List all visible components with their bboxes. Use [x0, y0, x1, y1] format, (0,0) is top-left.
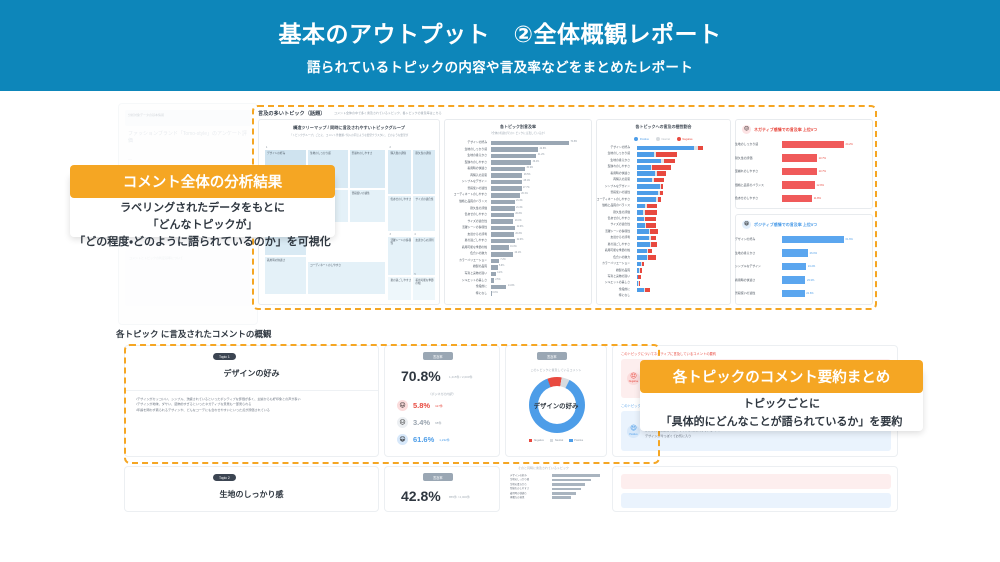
topic-2-minibars-wrap: そのと同時に言及されているトピック デザインの好み生地のしっかり感生地の柔らかさ…: [508, 466, 608, 512]
polarity-category-label: 生地の柔らかさ: [594, 158, 630, 163]
topic-card-2: Topic 2 生地のしっかり感: [124, 466, 379, 512]
bar-category-label: 生地の柔らかさ: [445, 153, 487, 158]
bar-category-label: 再購入の意思: [445, 173, 487, 178]
bar-category-label: シンプルなデザイン: [445, 179, 487, 184]
minibar-fill: [552, 496, 571, 499]
polarity-segment-positive: [637, 255, 647, 260]
callout1-line1: ラベリングされたデータをもとに: [70, 200, 335, 217]
topic-2-mention-pill: 言及率: [423, 473, 453, 481]
bar-fill: [491, 278, 494, 283]
bar-fill: [491, 141, 569, 146]
polarity-segment-positive: [637, 197, 656, 202]
treemap-cell[interactable]: 耐久性の評価: [412, 149, 436, 195]
polarity-category-label: 友達からの評判: [594, 235, 630, 240]
polarity-segment-positive: [637, 184, 660, 189]
polarity-segment-negative: [647, 204, 657, 209]
polarity-segment-positive: [637, 178, 652, 183]
slide-canvas: 分析対象データの基本情報 ファッションブランド「Tomo-style」のアンケー…: [0, 91, 1000, 562]
topic-2-name: 生地のしっかり感: [125, 489, 378, 500]
treemap-title: 構造ツリーマップ / 同時に言及されやすいトピックグループ: [259, 125, 439, 131]
bar-value-label: 2.5%: [495, 278, 500, 283]
treemap-cell[interactable]: 普段使いの適性: [349, 189, 386, 223]
callout1-body: ラベリングされたデータをもとに 「どんなトピックが」 「どの程度・どのように語ら…: [70, 200, 335, 251]
treemap-cell-label: コーディネートのしやすさ: [310, 264, 341, 267]
treemap-cell-label: 普段使いの適性: [352, 192, 370, 195]
topic-2-stats: 言及率 42.8% 855件 / 2,000件: [384, 466, 500, 512]
minibar-fill: [552, 474, 600, 477]
bar-category-label: 全般的に: [445, 284, 487, 289]
minibar-fill: [552, 492, 576, 495]
polarity-segment-positive: [637, 165, 651, 170]
polarity-category-label: 生地のしっかり感: [594, 151, 630, 156]
minibar-label: 生地の柔らかさ: [510, 483, 550, 486]
polarity-category-label: 耐久性の評価: [594, 210, 630, 215]
callout2-body: トピックごとに 「具体的にどんなことが語られているか」を要約: [640, 396, 923, 431]
treemap-cell-label: 活躍シーンの多様性: [390, 239, 411, 245]
bar-fill: [491, 160, 531, 165]
polarity-segment-positive: [637, 217, 644, 222]
polarity-category-label: サイズの適合性: [594, 222, 630, 227]
treemap-cell-label: 生地のしっかり感: [310, 152, 331, 155]
bar-value-label: 20.8%: [515, 212, 522, 217]
top5-bar: [782, 141, 844, 149]
positive-top5-bars: デザインの好み61.6%生地の柔らかさ26.0%シンプルなデザイン24.2%着用…: [736, 215, 872, 304]
top5-category-label: 生地の柔らかさ: [735, 249, 777, 258]
bar-value-label: 22.0%: [517, 225, 524, 230]
polarity-chart: 各トピックへの言及の極性割合 PositiveNeutralNegative デ…: [596, 119, 731, 305]
top5-category-label: 生地のしっかり感: [735, 140, 777, 149]
bar-category-label: 特になし: [445, 291, 487, 296]
top5-bar: [782, 236, 844, 244]
treemap-group-number: 4: [414, 233, 415, 236]
bar-fill: [491, 173, 522, 178]
polarity-category-label: 色合いの魅力: [594, 255, 630, 260]
bar-fill: [491, 147, 538, 152]
topic-2-mention-pct: 42.8%: [401, 488, 441, 504]
bar-value-label: 5.9%: [499, 264, 504, 269]
polarity-segment-positive: [637, 171, 655, 176]
topic-2-negative-box: [621, 474, 891, 489]
polarity-segment-negative: [645, 217, 656, 222]
polarity-category-label: 夏の過ごしやすさ: [594, 242, 630, 247]
topic-2-mention-note: 855件 / 2,000件: [449, 495, 470, 499]
polarity-segment-positive: [637, 204, 645, 209]
bar-category-label: 写真と実物の違い: [445, 271, 487, 276]
polarity-segment-negative: [654, 178, 664, 183]
top5-value-label: 23.3%: [807, 276, 814, 285]
polarity-bars: デザインの好み生地のしっかり感生地の柔らかさ型崩れのしやすさ着用時の快適さ再購入…: [597, 120, 730, 304]
top5-category-label: デザインの好み: [735, 235, 777, 244]
bar-fill: [491, 154, 536, 159]
top5-bar: [782, 263, 806, 271]
topic-2-minibars: デザインの好み生地のしっかり感生地の柔らかさ型崩れのしやすさ着用時の快適さ再購入…: [508, 474, 608, 506]
top-section-note: コメント全体の中で多く言及されているトピック、各トピックの言及率はこちら: [334, 111, 442, 115]
polarity-segment-positive: [637, 152, 654, 157]
treemap-cell-label: サイズの適合性: [415, 198, 433, 201]
top5-value-label: 11.8%: [814, 194, 821, 203]
top5-bar: [782, 290, 805, 298]
callout1-label: コメント全体の分析結果: [70, 165, 335, 198]
bar-category-label: コーディネートのしやすさ: [445, 192, 487, 197]
bar-fill: [491, 245, 509, 250]
treemap-cell[interactable]: 購入後の評価2: [387, 149, 412, 195]
polarity-segment-negative: [658, 197, 662, 202]
callout1-line3: 「どの程度・どのように語られているのか」を可視化: [70, 234, 335, 251]
bar-value-label: 20.8%: [515, 232, 522, 237]
treemap-cell-label: 着用時の快適さ: [267, 259, 285, 262]
bar-fill: [491, 291, 492, 296]
bar-category-label: 友達からの評判: [445, 232, 487, 237]
bar-fill: [491, 180, 522, 185]
top5-bar: [782, 168, 817, 176]
top5-category-label: 型崩れのしやすさ: [735, 167, 777, 176]
topic-2-pill: Topic 2: [213, 474, 236, 481]
treemap-cell[interactable]: サイズの適合性: [412, 195, 436, 232]
polarity-segment-negative: [646, 223, 656, 228]
polarity-segment-positive: [637, 159, 661, 164]
positive-top5-panel: 😄 ポジティブ感情での言及率 上位5つ デザインの好み61.6%生地の柔らかさ2…: [735, 214, 873, 305]
polarity-segment-negative: [656, 152, 677, 157]
treemap-cell[interactable]: 友達からの評判4: [412, 236, 436, 276]
minibar-fill: [552, 483, 585, 486]
top5-category-label: 普段使いの適性: [735, 289, 777, 298]
treemap-cell[interactable]: 色あせのしやすさ: [387, 195, 412, 232]
polarity-category-label: 写真と実物の違い: [594, 274, 630, 279]
bar-category-label: 耐久性の評価: [445, 206, 487, 211]
page-title: 基本のアウトプット ②全体概観レポート: [279, 15, 722, 49]
bar-value-label: 0.0%: [493, 291, 498, 296]
treemap-group-number: 1: [266, 146, 267, 149]
bar-category-label: 生地のしっかり感: [445, 147, 487, 152]
top5-category-label: 色あせのしやすさ: [735, 194, 777, 203]
treemap-cell[interactable]: 活躍シーンの多様性3: [387, 236, 412, 276]
polarity-segment-positive: [637, 229, 649, 234]
polarity-category-label: 特になし: [594, 293, 630, 298]
callout2-line2: 「具体的にどんなことが語られているか」を要約: [640, 414, 923, 432]
minibar-fill: [552, 479, 591, 482]
top5-bar: [782, 154, 817, 162]
polarity-segment-negative: [657, 171, 666, 176]
minibar-label: デザインの好み: [510, 474, 550, 477]
polarity-segment-negative: [648, 255, 655, 260]
polarity-category-label: 活躍シーンの多様性: [594, 229, 630, 234]
bar-fill: [491, 232, 514, 237]
treemap-subtitle: 「トピックグループ」ごとに、コメント件数順 / 何人の同じような要望クラスタに、…: [259, 133, 439, 137]
treemap-cell-label: デザインの好み: [267, 152, 285, 155]
slide-root: 基本のアウトプット ②全体概観レポート 語られているトピックの内容や言及率などを…: [0, 0, 1000, 562]
bar-category-label: 縫製の品質: [445, 264, 487, 269]
bar-category-label: カラーバリエーション: [445, 258, 487, 263]
polarity-segment-negative: [645, 210, 657, 215]
bar-fill: [491, 206, 515, 211]
treemap-cell[interactable]: 夏の過ごしやすさ: [387, 276, 412, 301]
bar-value-label: 7.2%: [500, 258, 505, 263]
minibar-label: 生地のしっかり感: [510, 478, 550, 481]
topic-2-minibar-head: そのと同時に言及されているトピック: [518, 466, 569, 470]
treemap-cell-label: 購入後の評価: [390, 152, 406, 155]
polarity-segment-positive: [637, 249, 647, 254]
polarity-category-label: 着用可能な季節の幅: [594, 248, 630, 253]
bar-fill: [491, 193, 520, 198]
bar-value-label: 20.1%: [515, 251, 522, 256]
polarity-category-label: 色あせのしやすさ: [594, 216, 630, 221]
bar-category-label: 着用可能な季節の幅: [445, 245, 487, 250]
minibar-label: 型崩れのしやすさ: [510, 487, 550, 490]
top-section-title: 言及の多いトピック（話題）: [258, 110, 325, 117]
treemap-cell-label: 型崩れのしやすさ: [352, 152, 373, 155]
callout-analysis-result: コメント全体の分析結果 ラベリングされたデータをもとに 「どんなトピックが」 「…: [70, 174, 335, 237]
polarity-category-label: カラーバリエーション: [594, 261, 630, 266]
polarity-segment-negative: [651, 236, 657, 241]
bar-category-label: 普段使いの適性: [445, 186, 487, 191]
polarity-segment-negative: [650, 229, 657, 234]
bar-fill: [491, 226, 515, 231]
bar-category-label: 着用時の快適さ: [445, 166, 487, 171]
bar-fill: [491, 200, 515, 205]
page-subtitle: 語られているトピックの内容や言及率などをまとめたレポート: [307, 56, 693, 76]
polarity-category-label: 普段使いの適性: [594, 190, 630, 195]
polarity-segment-negative: [638, 275, 641, 280]
bar-value-label: 41.2%: [538, 153, 545, 158]
treemap-group-number: 3: [389, 233, 390, 236]
bar-fill: [491, 213, 514, 218]
treemap-cell[interactable]: コーディネートのしやすさ: [307, 261, 386, 295]
bar-value-label: 21.4%: [516, 206, 523, 211]
polarity-category-label: 着用時の快適さ: [594, 171, 630, 176]
treemap-cell-label: 夏の過ごしやすさ: [390, 279, 411, 282]
bar-value-label: 28.5%: [524, 173, 531, 178]
polarity-segment-positive: [637, 236, 649, 241]
callout-topic-summary: 各トピックのコメント要約まとめ トピックごとに 「具体的にどんなことが語られてい…: [640, 369, 923, 431]
minibar-fill: [552, 488, 581, 491]
slide-header: 基本のアウトプット ②全体概観レポート 語られているトピックの内容や言及率などを…: [0, 0, 1000, 91]
polarity-segment-negative: [651, 242, 657, 247]
top5-value-label: 12.9%: [817, 181, 824, 190]
top5-category-label: 耐久性の評価: [735, 154, 777, 163]
polarity-segment-negative: [652, 165, 671, 170]
bar-fill: [491, 167, 525, 172]
bar-fill: [491, 272, 496, 277]
treemap-cell[interactable]: 型崩れのしやすさ: [349, 149, 386, 189]
bar-category-label: シルエットの美しさ: [445, 278, 487, 283]
polarity-segment-negative: [660, 191, 663, 196]
bar-value-label: 36.4%: [533, 160, 540, 165]
bar-fill: [491, 252, 513, 257]
bar-fill: [491, 285, 506, 290]
bar-value-label: 22.0%: [517, 238, 524, 243]
treemap-group-number: 2: [389, 146, 390, 149]
polarity-segment-negative: [648, 249, 652, 254]
bar-category-label: 夏の過ごしやすさ: [445, 238, 487, 243]
treemap-cell[interactable]: 着用時の快適さ: [264, 256, 307, 294]
polarity-category-label: コーディネートのしやすさ: [594, 197, 630, 202]
bar-category-label: 型崩れのしやすさ: [445, 160, 487, 165]
callout1-line2: 「どんなトピックが」: [70, 217, 335, 234]
polarity-segment-negative: [642, 262, 644, 267]
minibar-label: 再購入の意思: [510, 496, 550, 499]
bar-value-label: 30.9%: [527, 166, 534, 171]
bar-value-label: 70.8%: [571, 140, 578, 145]
polarity-segment-negative: [640, 268, 643, 273]
treemap-cell-label: 耐久性の評価: [415, 152, 431, 155]
polarity-category-label: シンプルなデザイン: [594, 184, 630, 189]
polarity-segment-negative: [639, 281, 640, 286]
callout2-line1: トピックごとに: [640, 396, 923, 414]
top5-value-label: 24.2%: [808, 262, 815, 271]
bar-fill: [491, 265, 498, 270]
bar-category-label: デザインの好み: [445, 140, 487, 145]
top5-bar: [782, 181, 815, 189]
top5-value-label: 13.7%: [819, 167, 826, 176]
bar-value-label: 26.1%: [521, 192, 528, 197]
bar-fill: [491, 259, 499, 264]
top5-value-label: 26.0%: [810, 249, 817, 258]
bar-value-label: 27.7%: [523, 186, 530, 191]
polarity-category-label: 全般的に: [594, 287, 630, 292]
top5-bar: [782, 195, 812, 203]
polarity-category-label: 縫製の品質: [594, 268, 630, 273]
top5-bar: [782, 276, 805, 284]
bar-value-label: 16.0%: [510, 245, 517, 250]
polarity-segment-negative: [698, 146, 703, 151]
polarity-segment-positive: [637, 223, 645, 228]
bar-category-label: 色合いの魅力: [445, 251, 487, 256]
topic-2-positive-box: [621, 493, 891, 508]
bar-value-label: 4.2%: [497, 271, 502, 276]
topic-summary-frame: [124, 344, 660, 464]
top5-category-label: シンプルなデザイン: [735, 262, 777, 271]
negative-top5-bars: 生地のしっかり感24.2%耐久性の評価13.7%型崩れのしやすさ13.7%価格と…: [736, 120, 872, 208]
polarity-category-label: 型崩れのしやすさ: [594, 164, 630, 169]
bar-value-label: 42.8%: [540, 147, 547, 152]
bar-value-label: 21.4%: [516, 199, 523, 204]
bar-value-label: 14.0%: [508, 284, 515, 289]
negative-top5-panel: 😖 ネガティブ感情での言及率 上位5つ 生地のしっかり感24.2%耐久性の評価1…: [735, 119, 873, 209]
polarity-segment-negative: [664, 159, 676, 164]
bar-value-label: 20.4%: [515, 219, 522, 224]
polarity-segment-positive: [637, 242, 650, 247]
top5-value-label: 61.6%: [846, 235, 853, 244]
minibar-label: 着用時の快適さ: [510, 492, 550, 495]
top5-value-label: 24.2%: [846, 140, 853, 149]
polarity-category-label: 価格と品質のバランス: [594, 203, 630, 208]
bar-fill: [491, 239, 515, 244]
overview-report-frame: 言及の多いトピック（話題） コメント全体の中で多く言及されているトピック、各トピ…: [252, 105, 877, 310]
polarity-segment-negative: [645, 288, 650, 293]
top5-value-label: 13.7%: [819, 154, 826, 163]
treemap-cell[interactable]: 着用可能な季節の幅5: [412, 276, 436, 301]
bar-value-label: 28.1%: [523, 179, 530, 184]
polarity-category-label: デザインの好み: [594, 145, 630, 150]
bar-category-label: 色あせのしやすさ: [445, 212, 487, 217]
bar-category-label: 価格と品質のバランス: [445, 199, 487, 204]
polarity-category-label: シルエットの美しさ: [594, 280, 630, 285]
topic-2-comment-summaries: [612, 466, 898, 512]
callout2-label: 各トピックのコメント要約まとめ: [640, 360, 923, 393]
mention-rate-chart: 各トピック別言及率 （全体の何割がそのトピックに言及しているか） デザインの好み…: [444, 119, 592, 305]
bar-fill: [491, 219, 513, 224]
bar-category-label: サイズの適合性: [445, 219, 487, 224]
top5-bar: [782, 249, 808, 257]
treemap-cell-label: 色あせのしやすさ: [390, 198, 411, 201]
bottom-section-title: 各トピック に言及されたコメントの概観: [116, 328, 271, 340]
bar-category-label: 活躍シーンの多様性: [445, 225, 487, 230]
treemap-cell-label: 友達からの評判: [415, 239, 433, 242]
mention-rate-bars: デザインの好み70.8%生地のしっかり感42.8%生地の柔らかさ41.2%型崩れ…: [445, 120, 591, 304]
polarity-segment-positive: [637, 191, 658, 196]
polarity-category-label: 再購入の意思: [594, 177, 630, 182]
polarity-segment-positive: [637, 146, 694, 151]
top5-category-label: 価格と品質のバランス: [735, 181, 777, 190]
top5-value-label: 22.6%: [806, 289, 813, 298]
polarity-segment-negative: [661, 184, 663, 189]
bar-fill: [491, 186, 522, 191]
treemap-cell-label: 着用可能な季節の幅: [415, 279, 435, 285]
polarity-segment-positive: [637, 288, 644, 293]
top5-category-label: 着用時の快適さ: [735, 276, 777, 285]
treemap-group-number: 5: [414, 273, 415, 276]
